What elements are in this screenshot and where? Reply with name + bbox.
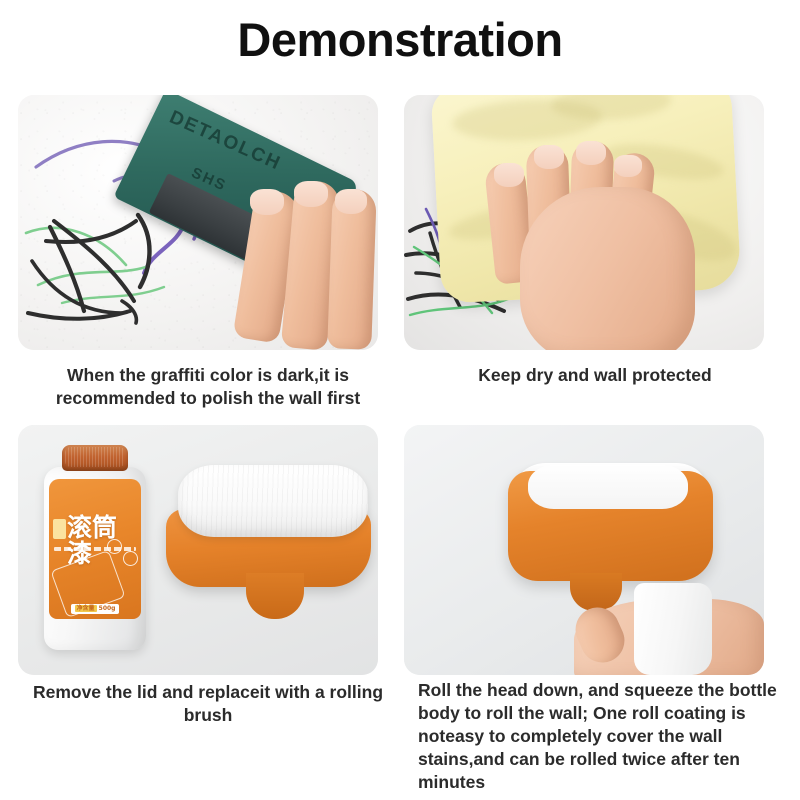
caption-panel-2: Keep dry and wall protected bbox=[404, 364, 786, 387]
photo-hand-wiping-wall-with-cloth bbox=[404, 95, 764, 350]
nail-ring bbox=[576, 141, 606, 165]
label-badge bbox=[53, 519, 66, 539]
palm bbox=[520, 187, 695, 350]
roller-neck bbox=[246, 573, 304, 619]
panel-3: 滚筒漆 净含量 500g bbox=[18, 425, 378, 675]
hand-wiping bbox=[490, 127, 705, 350]
nail-middle bbox=[534, 145, 564, 169]
demonstration-page: Demonstration bbox=[0, 0, 800, 800]
label-weight-value: 500g bbox=[99, 605, 116, 612]
label-weight-tag: 净含量 bbox=[75, 605, 97, 612]
roller-brush bbox=[166, 465, 371, 640]
caption-panel-3: Remove the lid and replaceit with a roll… bbox=[18, 681, 398, 727]
nail-little bbox=[614, 155, 642, 177]
bottle-label: 滚筒漆 净含量 500g bbox=[49, 479, 141, 619]
roller-sleeve bbox=[178, 465, 368, 537]
nail-middle bbox=[294, 181, 328, 207]
label-subtext-line bbox=[54, 547, 136, 551]
page-title: Demonstration bbox=[0, 8, 800, 72]
photo-paint-bottle-and-roller-brush: 滚筒漆 净含量 500g bbox=[18, 425, 378, 675]
roller-sleeve-front bbox=[528, 465, 688, 509]
bottle-cap bbox=[62, 445, 128, 471]
paint-bottle: 滚筒漆 净含量 500g bbox=[40, 445, 148, 650]
panel-4 bbox=[404, 425, 764, 675]
label-circle-icon-2 bbox=[123, 551, 138, 566]
panel-1: DETAOLCH SHS bbox=[18, 95, 378, 350]
nail-index bbox=[494, 163, 524, 187]
panel-2 bbox=[404, 95, 764, 350]
hand-holding-sponge bbox=[216, 173, 378, 350]
label-weight: 净含量 500g bbox=[71, 604, 119, 614]
hand-squeezing-bottle bbox=[574, 585, 764, 675]
bottle-body-held bbox=[634, 583, 712, 675]
nail-ring bbox=[335, 189, 367, 214]
label-circle-icon-1 bbox=[107, 539, 122, 554]
caption-panel-4: Roll the head down, and squeeze the bott… bbox=[418, 679, 780, 794]
caption-panel-1: When the graffiti color is dark,it is re… bbox=[18, 364, 398, 410]
photo-sanding-block-on-graffiti-wall: DETAOLCH SHS bbox=[18, 95, 378, 350]
nail-index bbox=[250, 189, 284, 215]
photo-rolling-brush-applied-to-wall bbox=[404, 425, 764, 675]
